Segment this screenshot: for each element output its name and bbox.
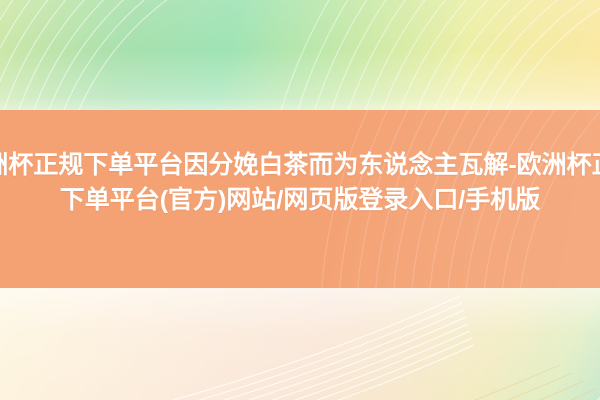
bottom-gradient-band — [0, 288, 600, 400]
banner-headline: 欧洲杯正规下单平台因分娩白茶而为东说念主瓦解-欧洲杯正规下单平台(官方)网站/网… — [0, 148, 600, 218]
bottom-band-sheen — [0, 288, 600, 400]
decorative-banner: 欧洲杯正规下单平台因分娩白茶而为东说念主瓦解-欧洲杯正规下单平台(官方)网站/网… — [0, 0, 600, 400]
top-gradient-band — [0, 0, 600, 110]
top-band-sheen — [0, 0, 600, 110]
